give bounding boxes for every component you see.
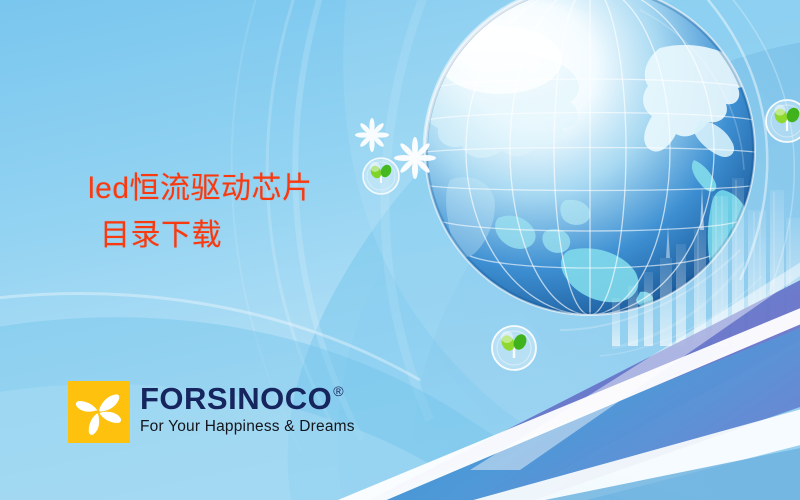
registered-trademark-icon: ® — [333, 384, 344, 398]
headline-text: led恒流驱动芯片 目录下载 — [88, 166, 418, 259]
brand-wordmark: FORSINOCO ® — [140, 383, 355, 414]
pinwheel-flower-icon — [68, 381, 130, 443]
logo-text-block: FORSINOCO ® For Your Happiness & Dreams — [140, 381, 355, 435]
brand-name: FORSINOCO — [140, 383, 332, 414]
slide-canvas: led恒流驱动芯片 目录下载 FORSINOCO ® For Your Happ… — [0, 0, 800, 500]
sprout-bubble-icon — [492, 326, 536, 370]
headline-line-2: 目录下载 — [88, 213, 418, 260]
sprout-bubble-icon — [766, 100, 800, 142]
headline-line-1: led恒流驱动芯片 — [88, 172, 313, 205]
company-logo: FORSINOCO ® For Your Happiness & Dreams — [68, 381, 355, 443]
brand-tagline: For Your Happiness & Dreams — [140, 419, 355, 435]
